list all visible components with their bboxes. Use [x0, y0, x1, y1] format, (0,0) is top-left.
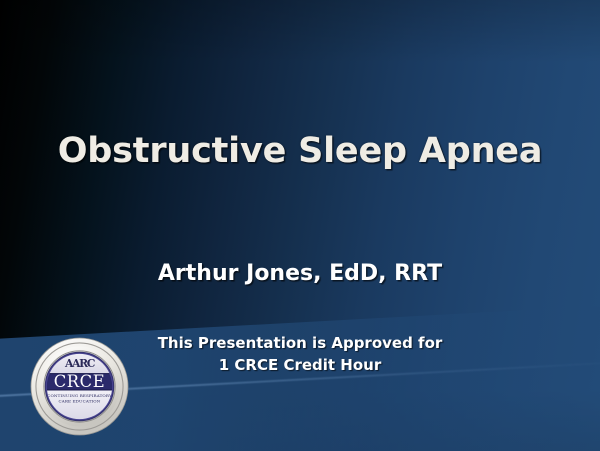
title-slide: Obstructive Sleep Apnea Arthur Jones, Ed…	[0, 0, 600, 451]
crce-tagline-line-1: CONTINUING RESPIRATORY	[47, 393, 112, 398]
presenter-name: Arthur Jones, EdD, RRT	[0, 261, 600, 286]
crce-seal-logo: AARC CRCE CONTINUING RESPIRATORY CARE ED…	[30, 337, 129, 436]
slide-title: Obstructive Sleep Apnea	[0, 131, 600, 171]
crce-wordmark-text: CRCE	[54, 372, 106, 391]
aarc-monogram-text: AARC	[64, 357, 96, 370]
crce-tagline-line-2: CARE EDUCATION	[59, 398, 101, 403]
